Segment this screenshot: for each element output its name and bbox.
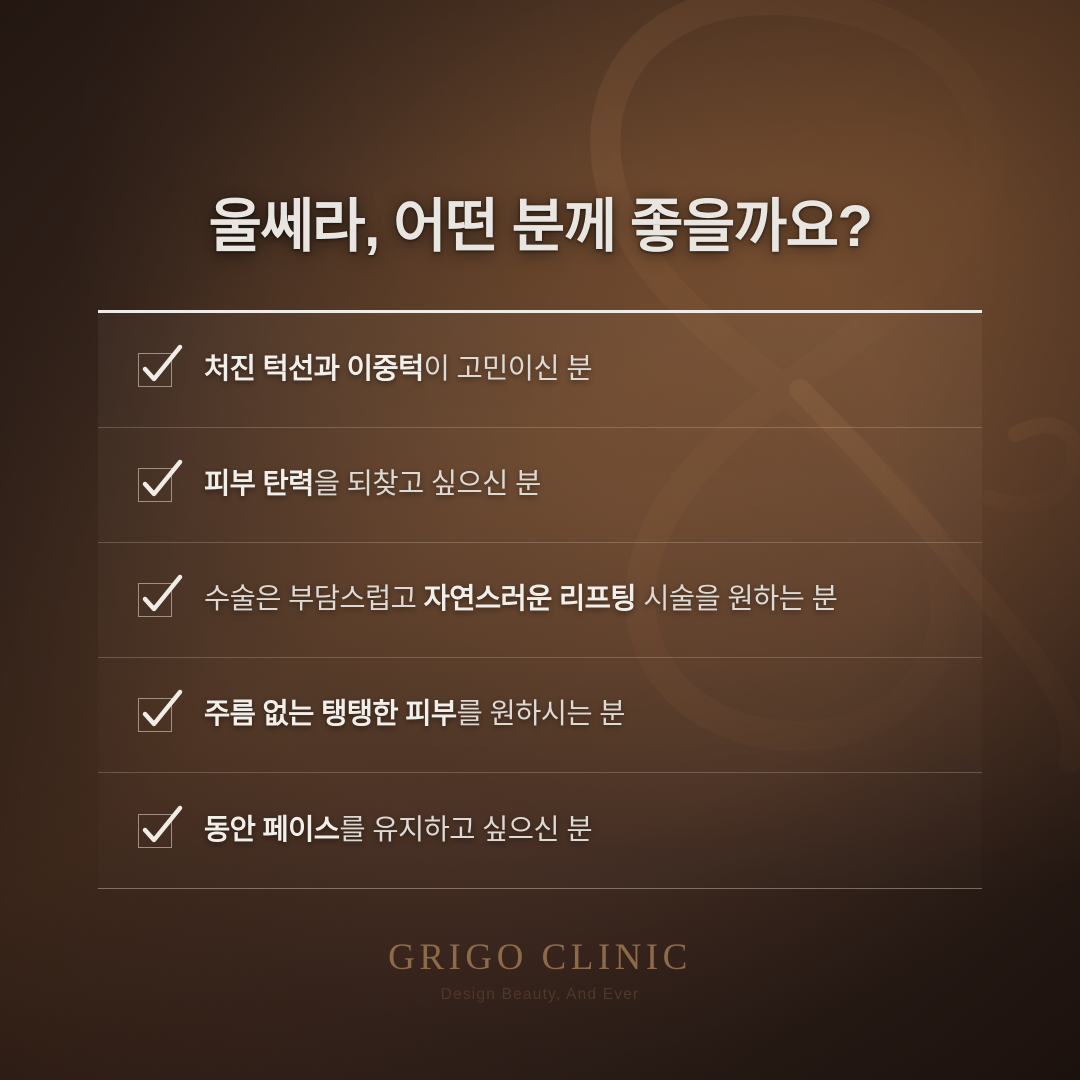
list-item-bold: 처진 턱선과 이중턱 xyxy=(204,353,424,385)
list-item-text: 수술은 부담스럽고 자연스러운 리프팅 시술을 원하는 분 xyxy=(204,582,837,618)
checkbox-checked-icon xyxy=(136,464,178,506)
brand-logo: GRIGO CLINIC xyxy=(0,938,1080,979)
list-item[interactable]: 피부 탄력을 되찾고 싶으신 분 xyxy=(98,428,982,543)
promo-card: 울쎄라, 어떤 분께 좋을까요? 처진 턱선과 이중턱이 고민이신 분 피부 탄… xyxy=(0,0,1080,1080)
list-item[interactable]: 처진 턱선과 이중턱이 고민이신 분 xyxy=(98,313,982,428)
list-item[interactable]: 주름 없는 탱탱한 피부를 원하시는 분 xyxy=(98,658,982,773)
checkbox-checked-icon xyxy=(136,579,178,621)
list-item-bold: 자연스러운 리프팅 xyxy=(424,583,636,615)
list-item-text: 동안 페이스를 유지하고 싶으신 분 xyxy=(204,813,592,849)
checkbox-checked-icon xyxy=(136,349,178,391)
list-item-rest: 를 유지하고 싶으신 분 xyxy=(339,814,592,846)
checkbox-checked-icon xyxy=(136,694,178,736)
list-item-rest: 를 원하시는 분 xyxy=(457,698,625,730)
list-item-text: 피부 탄력을 되찾고 싶으신 분 xyxy=(204,467,541,503)
brand-tagline: Design Beauty, And Ever xyxy=(0,986,1080,1004)
list-item[interactable]: 동안 페이스를 유지하고 싶으신 분 xyxy=(98,773,982,888)
page-title: 울쎄라, 어떤 분께 좋을까요? xyxy=(0,179,1080,263)
list-item-rest: 시술을 원하는 분 xyxy=(636,583,837,615)
checkbox-checked-icon xyxy=(136,810,178,852)
list-item-lead: 수술은 부담스럽고 xyxy=(204,583,424,615)
list-item-bold: 피부 탄력 xyxy=(204,468,314,500)
list-item-bold: 동안 페이스 xyxy=(204,814,339,846)
list-item-bold: 주름 없는 탱탱한 피부 xyxy=(204,698,457,730)
checklist-panel: 처진 턱선과 이중턱이 고민이신 분 피부 탄력을 되찾고 싶으신 분 수술은 … xyxy=(98,310,982,889)
list-item-rest: 을 되찾고 싶으신 분 xyxy=(314,468,541,500)
footer: GRIGO CLINIC Design Beauty, And Ever xyxy=(0,938,1080,1004)
list-item[interactable]: 수술은 부담스럽고 자연스러운 리프팅 시술을 원하는 분 xyxy=(98,543,982,658)
list-item-text: 주름 없는 탱탱한 피부를 원하시는 분 xyxy=(204,697,625,733)
list-item-text: 처진 턱선과 이중턱이 고민이신 분 xyxy=(204,352,592,388)
list-item-rest: 이 고민이신 분 xyxy=(424,353,592,385)
